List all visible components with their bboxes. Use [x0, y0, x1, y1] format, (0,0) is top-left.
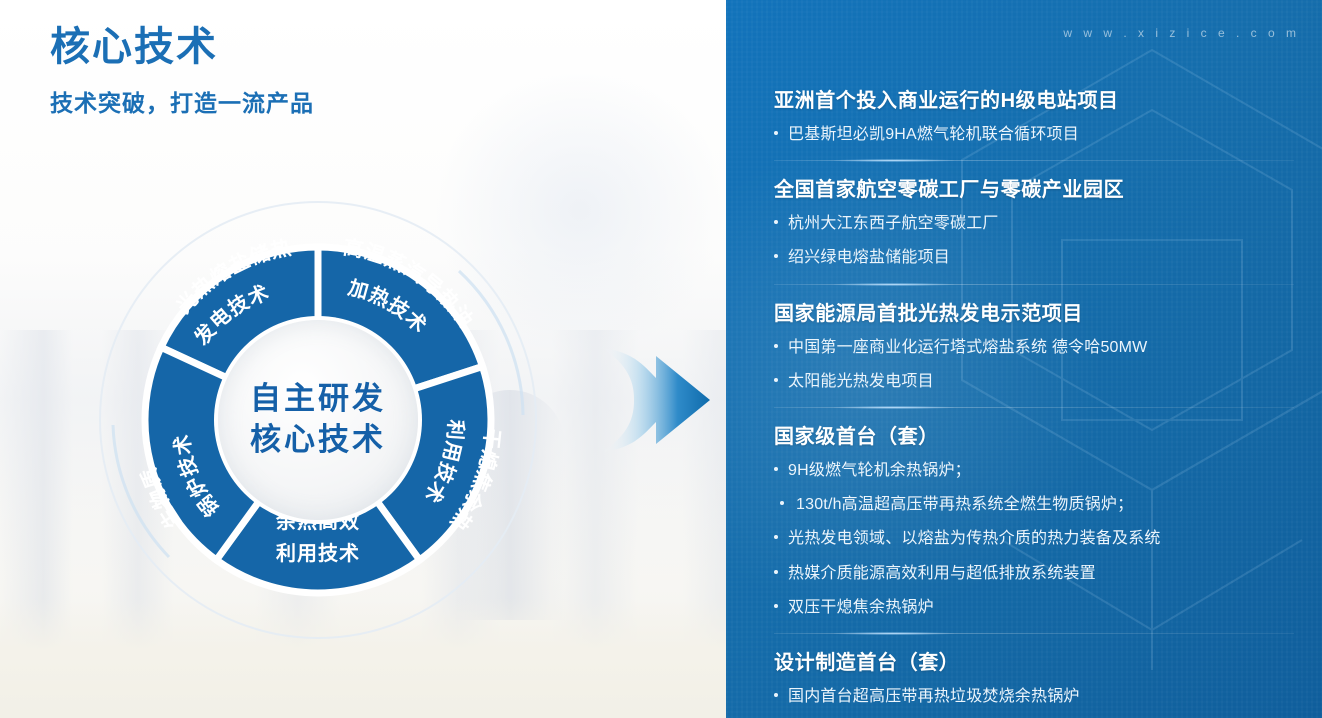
- list-item: 绍兴绿电熔盐储能项目: [774, 246, 1294, 269]
- section-divider: [774, 633, 1294, 634]
- section-bullets: 国内首台超高压带再热垃圾焚烧余热锅炉: [774, 685, 1294, 708]
- section-solar-thermal-demo: 国家能源局首批光热发电示范项目 中国第一座商业化运行塔式熔盐系统 德令哈50MW…: [774, 301, 1294, 393]
- list-item: 双压干熄焦余热锅炉: [774, 596, 1294, 619]
- section-title: 国家能源局首批光热发电示范项目: [774, 301, 1294, 327]
- list-item: 杭州大江东西子航空零碳工厂: [774, 212, 1294, 235]
- section-divider: [774, 284, 1294, 285]
- section-title: 亚洲首个投入商业运行的H级电站项目: [774, 88, 1294, 114]
- list-item: 太阳能光热发电项目: [774, 370, 1294, 393]
- list-item: 9H级燃气轮机余热锅炉；: [774, 459, 1294, 482]
- segment-label-bottom-line2: 利用技术: [276, 541, 360, 565]
- list-item: 国内首台超高压带再热垃圾焚烧余热锅炉: [774, 685, 1294, 708]
- left-panel: 核心技术 技术突破，打造一流产品: [0, 0, 726, 718]
- section-bullets: 巴基斯坦必凯9HA燃气轮机联合循环项目: [774, 123, 1294, 146]
- donut-center-line1: 自主研发: [250, 379, 386, 420]
- site-watermark: w w w . x i z i c e . c o m: [1063, 26, 1300, 40]
- section-title: 国家级首台（套）: [774, 424, 1294, 450]
- donut-center-label: 自主研发 核心技术: [218, 320, 418, 520]
- achievements-list: 亚洲首个投入商业运行的H级电站项目 巴基斯坦必凯9HA燃气轮机联合循环项目 全国…: [774, 88, 1294, 718]
- section-national-first-set: 国家级首台（套） 9H级燃气轮机余热锅炉； 130t/h高温超高压带再热系统全燃…: [774, 424, 1294, 619]
- list-item: 热媒介质能源高效利用与超低排放系统装置: [774, 562, 1294, 585]
- section-divider: [774, 407, 1294, 408]
- core-technology-donut: 光热熔盐储热 发电技术 高温蒸汽导热油 加热技术 干熄焦余热: [83, 185, 553, 655]
- section-asia-h-class: 亚洲首个投入商业运行的H级电站项目 巴基斯坦必凯9HA燃气轮机联合循环项目: [774, 88, 1294, 146]
- section-design-manufacture-first-set: 设计制造首台（套） 国内首台超高压带再热垃圾焚烧余热锅炉: [774, 650, 1294, 708]
- list-item: 光热发电领域、以熔盐为传热介质的热力装备及系统: [774, 527, 1294, 550]
- donut-center-line2: 核心技术: [250, 420, 386, 461]
- slide-canvas: 核心技术 技术突破，打造一流产品: [0, 0, 1322, 718]
- right-panel: w w w . x i z i c e . c o m 亚洲首个投入商业运行的H…: [726, 0, 1322, 718]
- section-bullets: 中国第一座商业化运行塔式熔盐系统 德令哈50MW 太阳能光热发电项目: [774, 336, 1294, 393]
- right-arrow-icon: [600, 330, 720, 470]
- section-bullets: 杭州大江东西子航空零碳工厂 绍兴绿电熔盐储能项目: [774, 212, 1294, 269]
- list-item: 中国第一座商业化运行塔式熔盐系统 德令哈50MW: [774, 336, 1294, 359]
- section-bullets: 9H级燃气轮机余热锅炉； 130t/h高温超高压带再热系统全燃生物质锅炉； 光热…: [774, 459, 1294, 619]
- section-divider: [774, 160, 1294, 161]
- section-title: 全国首家航空零碳工厂与零碳产业园区: [774, 177, 1294, 203]
- page-subtitle: 技术突破，打造一流产品: [50, 84, 314, 118]
- section-zero-carbon-factory: 全国首家航空零碳工厂与零碳产业园区 杭州大江东西子航空零碳工厂 绍兴绿电熔盐储能…: [774, 177, 1294, 269]
- list-item: 巴基斯坦必凯9HA燃气轮机联合循环项目: [774, 123, 1294, 146]
- list-item: 130t/h高温超高压带再热系统全燃生物质锅炉；: [774, 493, 1294, 516]
- page-title: 核心技术: [50, 24, 218, 70]
- section-title: 设计制造首台（套）: [774, 650, 1294, 676]
